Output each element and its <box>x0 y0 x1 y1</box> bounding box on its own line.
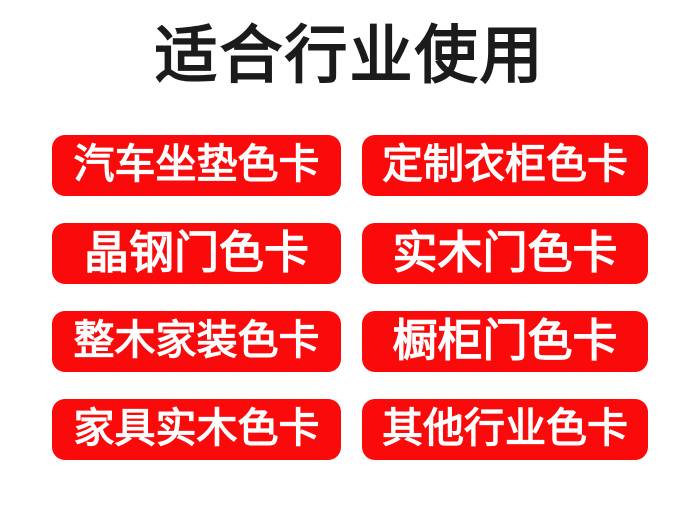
industry-button-cabinet-door[interactable]: 橱柜门色卡 <box>362 311 648 372</box>
industry-category-grid: 汽车坐垫色卡 定制衣柜色卡 晶钢门色卡 实木门色卡 整木家装色卡 橱柜门色卡 家… <box>52 135 648 466</box>
industry-button-label: 其他行业色卡 <box>382 408 628 449</box>
industry-button-other-industries[interactable]: 其他行业色卡 <box>362 399 648 460</box>
industry-button-solid-wood-door[interactable]: 实木门色卡 <box>362 223 648 284</box>
industry-button-label: 晶钢门色卡 <box>84 230 309 275</box>
page-title: 适合行业使用 <box>0 18 699 94</box>
industry-button-label: 家具实木色卡 <box>74 408 320 449</box>
industry-button-car-seat-cushion[interactable]: 汽车坐垫色卡 <box>52 135 341 196</box>
industry-button-custom-wardrobe[interactable]: 定制衣柜色卡 <box>362 135 648 196</box>
industry-button-label: 汽车坐垫色卡 <box>74 144 320 185</box>
industry-button-whole-wood-decoration[interactable]: 整木家装色卡 <box>52 311 341 372</box>
industry-button-label: 橱柜门色卡 <box>392 318 617 363</box>
industry-button-label: 整木家装色卡 <box>74 320 320 361</box>
industry-button-crystal-steel-door[interactable]: 晶钢门色卡 <box>52 223 341 284</box>
industry-usage-banner: 适合行业使用 汽车坐垫色卡 定制衣柜色卡 晶钢门色卡 实木门色卡 整木家装色卡 … <box>0 0 699 508</box>
industry-button-furniture-solid-wood[interactable]: 家具实木色卡 <box>52 399 341 460</box>
industry-button-label: 定制衣柜色卡 <box>382 144 628 185</box>
industry-button-label: 实木门色卡 <box>392 230 617 275</box>
